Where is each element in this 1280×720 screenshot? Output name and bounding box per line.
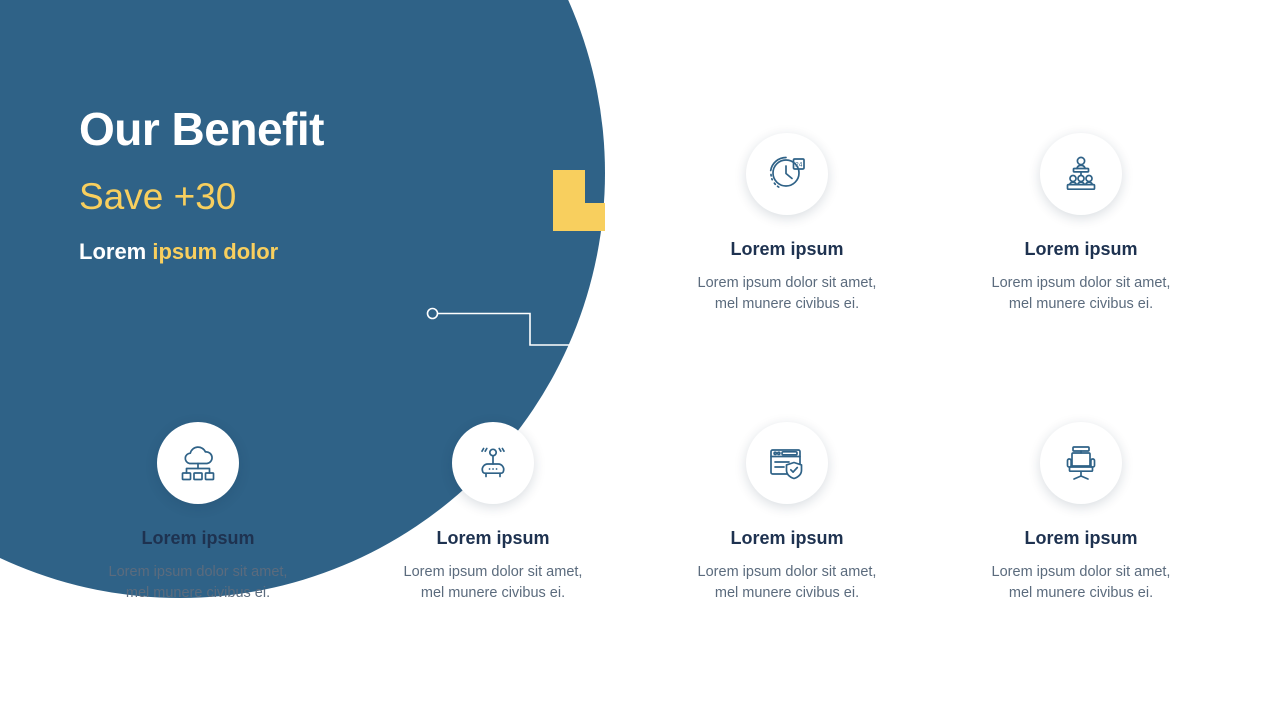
card-description: Lorem ipsum dolor sit amet, mel munere c… bbox=[78, 562, 318, 604]
page-title: Our Benefit bbox=[79, 104, 324, 155]
feature-card[interactable]: Lorem ipsum Lorem ipsum dolor sit amet, … bbox=[961, 422, 1201, 604]
feature-card[interactable]: Lorem ipsum Lorem ipsum dolor sit amet, … bbox=[373, 422, 613, 604]
cloud-network-icon bbox=[177, 443, 219, 483]
card-description: Lorem ipsum dolor sit amet, mel munere c… bbox=[961, 273, 1201, 315]
icon-badge bbox=[746, 422, 828, 504]
card-title: Lorem ipsum bbox=[667, 528, 907, 550]
card-title: Lorem ipsum bbox=[78, 528, 318, 550]
tagline-plain-text: Lorem bbox=[79, 239, 152, 264]
card-title: Lorem ipsum bbox=[667, 239, 907, 261]
icon-badge bbox=[1040, 422, 1122, 504]
slide-canvas: Our Benefit Save +30 Lorem ipsum dolor 2… bbox=[0, 0, 1280, 720]
yellow-l-block bbox=[553, 170, 605, 231]
browser-security-icon bbox=[766, 443, 808, 483]
tagline-accent-text: ipsum dolor bbox=[152, 239, 278, 264]
clock-24-icon: 24 bbox=[766, 153, 808, 195]
card-description: Lorem ipsum dolor sit amet, mel munere c… bbox=[667, 562, 907, 604]
headline-block: Our Benefit Save +30 Lorem ipsum dolor bbox=[79, 104, 324, 266]
card-description: Lorem ipsum dolor sit amet, mel munere c… bbox=[961, 562, 1201, 604]
office-chair-icon bbox=[1061, 443, 1101, 483]
feature-card[interactable]: Lorem ipsum Lorem ipsum dolor sit amet, … bbox=[667, 422, 907, 604]
feature-card[interactable]: Lorem ipsum Lorem ipsum dolor sit amet, … bbox=[961, 133, 1201, 315]
icon-badge bbox=[1040, 133, 1122, 215]
card-title: Lorem ipsum bbox=[373, 528, 613, 550]
svg-text:24: 24 bbox=[795, 162, 803, 169]
elbow-connector-line bbox=[425, 305, 625, 355]
icon-badge: 24 bbox=[746, 133, 828, 215]
icon-badge bbox=[157, 422, 239, 504]
headline-subtitle: Save +30 bbox=[79, 177, 324, 218]
card-title: Lorem ipsum bbox=[961, 528, 1201, 550]
yellow-l-block-horizontal bbox=[553, 203, 605, 231]
icon-badge bbox=[452, 422, 534, 504]
feature-card[interactable]: 24 Lorem ipsum Lorem ipsum dolor sit ame… bbox=[667, 133, 907, 315]
card-description: Lorem ipsum dolor sit amet, mel munere c… bbox=[373, 562, 613, 604]
feature-card[interactable]: Lorem ipsum Lorem ipsum dolor sit amet, … bbox=[78, 422, 318, 604]
card-description: Lorem ipsum dolor sit amet, mel munere c… bbox=[667, 273, 907, 315]
team-hierarchy-icon bbox=[1061, 154, 1101, 194]
headline-tagline: Lorem ipsum dolor bbox=[79, 239, 324, 265]
wifi-router-icon bbox=[472, 443, 514, 483]
card-title: Lorem ipsum bbox=[961, 239, 1201, 261]
